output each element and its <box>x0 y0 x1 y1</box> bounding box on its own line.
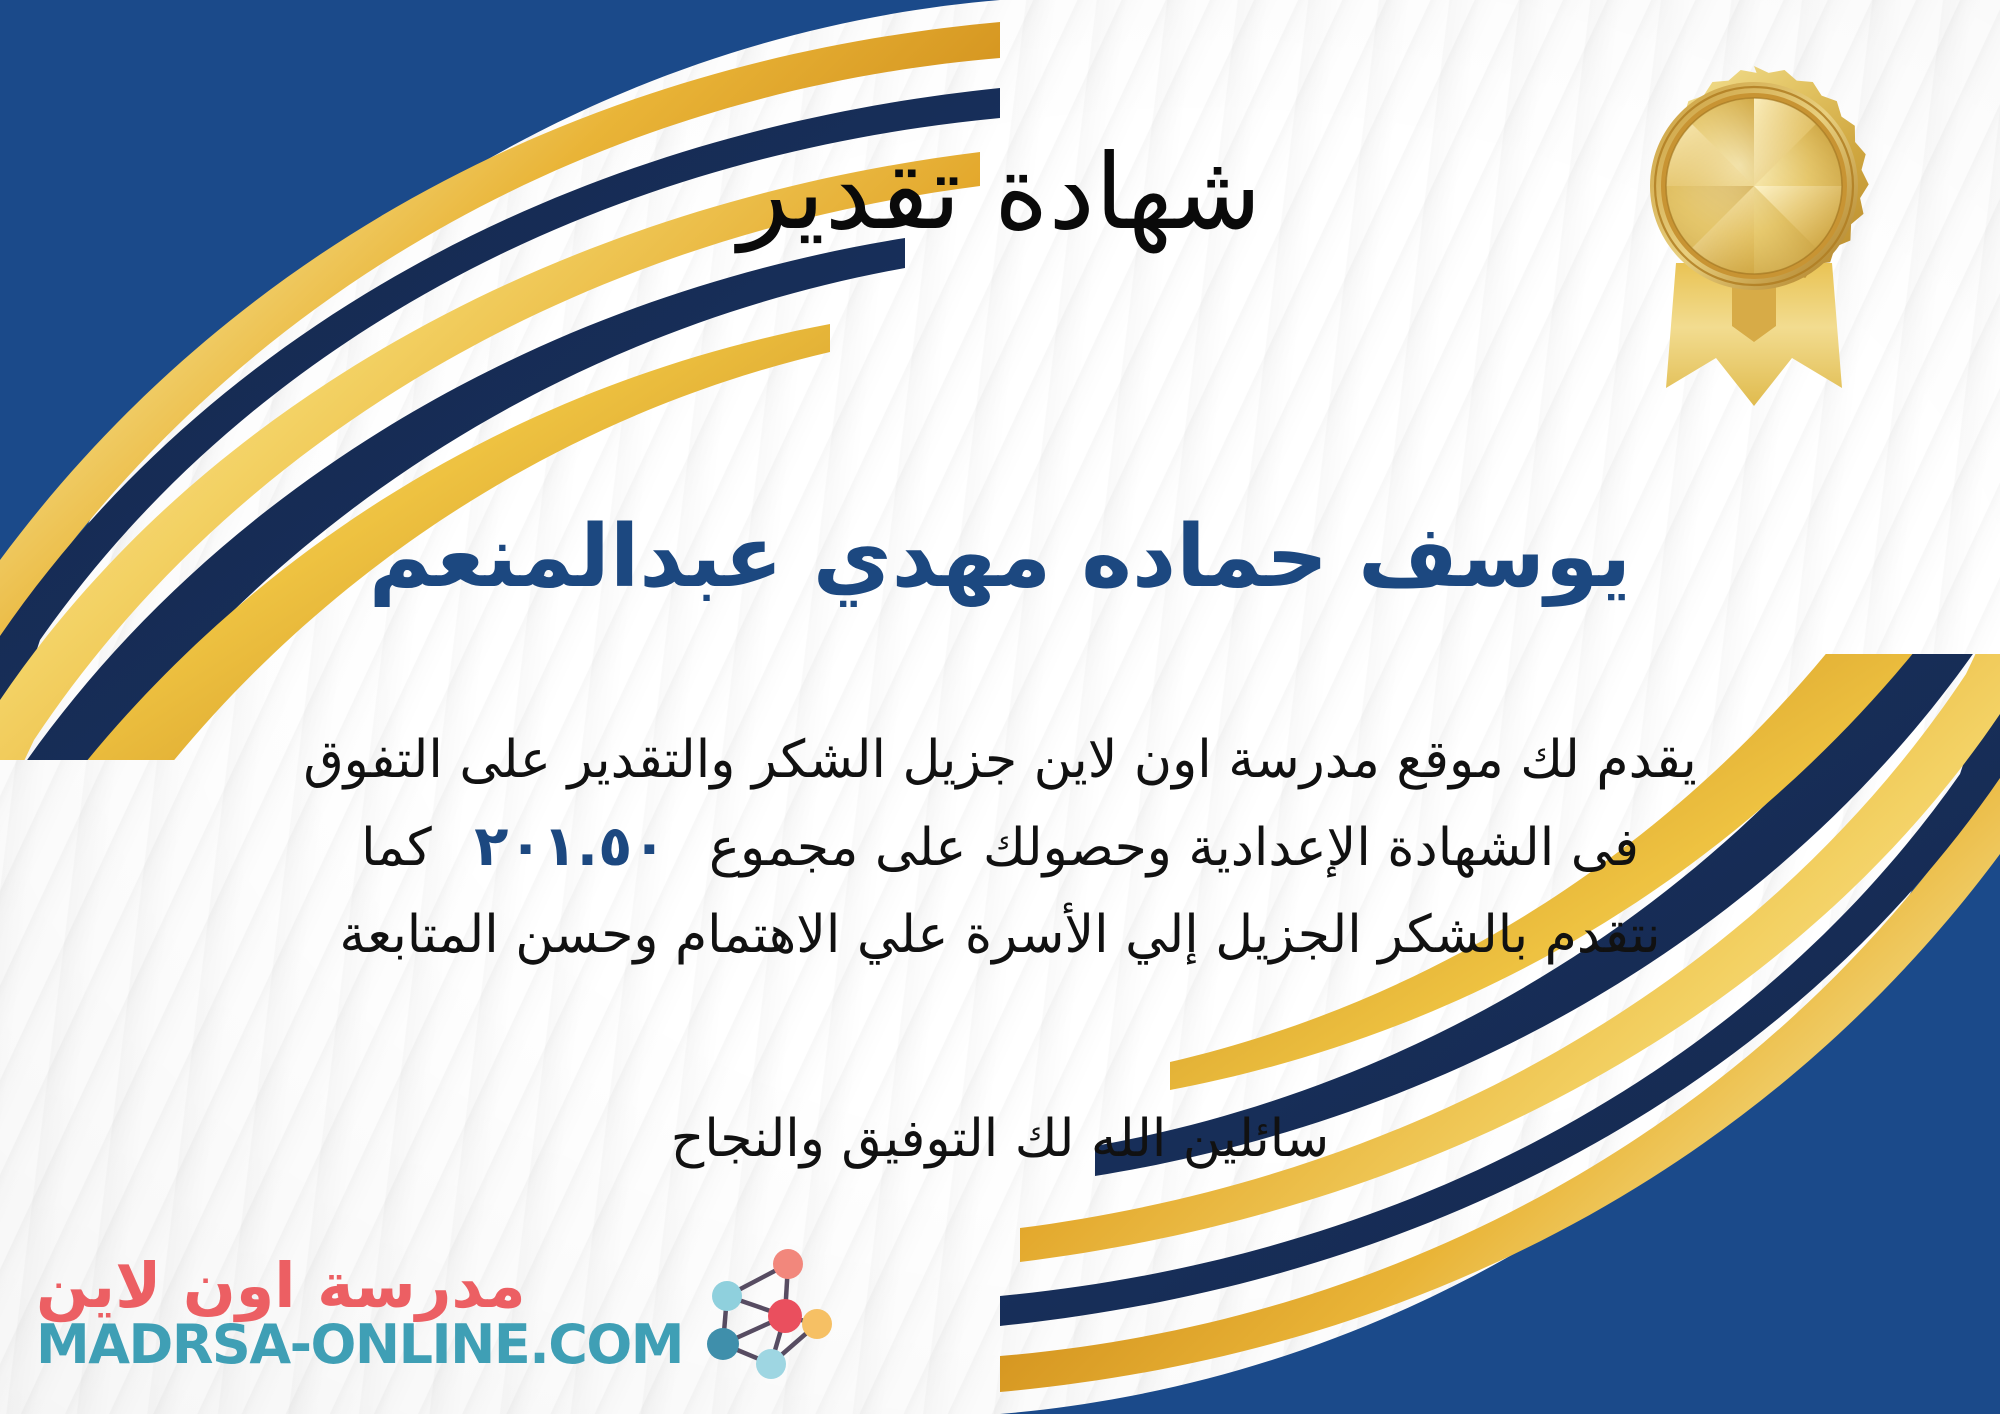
body-line-2-prefix: فى الشهادة الإعدادية وحصولك على مجموع <box>709 818 1639 878</box>
closing-line: سائلين الله لك التوفيق والنجاح <box>0 1100 2000 1178</box>
certificate: شهادة تقدير يوسف حماده مهدي عبدالمنعم يق… <box>0 0 2000 1414</box>
site-logo-text: مدرسة اون لاين MADRSA-ONLINE.COM <box>36 1254 683 1374</box>
site-logo-domain: MADRSA-ONLINE.COM <box>36 1317 683 1374</box>
network-nodes-icon <box>693 1240 833 1388</box>
site-logo-arabic: مدرسة اون لاين <box>36 1254 526 1317</box>
total-score-value: ٢٠١.٥٠ <box>448 814 692 879</box>
certificate-title: شهادة تقدير <box>0 138 2000 247</box>
certificate-body: يقدم لك موقع مدرسة اون لاين جزيل الشكر و… <box>60 718 1940 977</box>
body-line-1: يقدم لك موقع مدرسة اون لاين جزيل الشكر و… <box>60 718 1940 802</box>
student-name: يوسف حماده مهدي عبدالمنعم <box>0 510 2000 605</box>
site-logo[interactable]: مدرسة اون لاين MADRSA-ONLINE.COM <box>36 1240 833 1388</box>
body-line-3: نتقدم بالشكر الجزيل إلي الأسرة علي الاهت… <box>60 893 1940 977</box>
body-line-2-suffix: كما <box>361 818 432 878</box>
body-line-2: فى الشهادة الإعدادية وحصولك على مجموع ٢٠… <box>60 802 1940 893</box>
